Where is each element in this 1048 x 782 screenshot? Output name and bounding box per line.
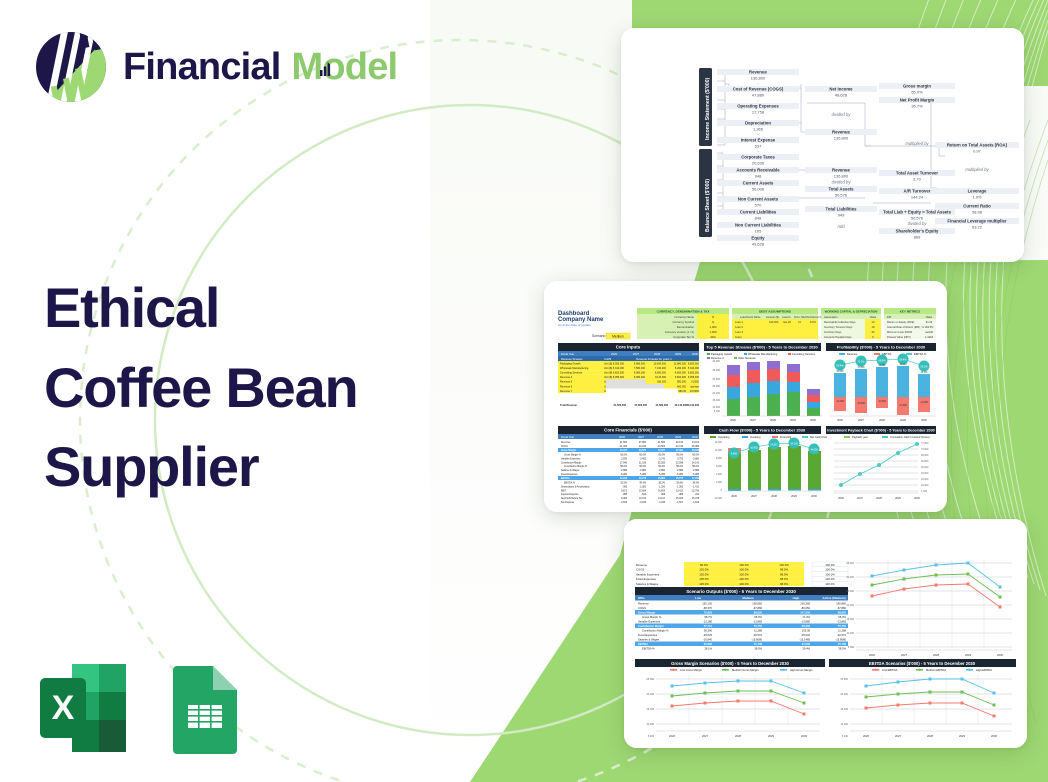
svg-text:Income Statement ($'000): Income Statement ($'000) [705, 77, 711, 140]
svg-text:Gross Margin %: Gross Margin % [642, 615, 662, 619]
svg-text:As at the Date of Update: As at the Date of Update [558, 323, 591, 327]
svg-text:63.22: 63.22 [972, 224, 983, 229]
svg-text:Active (Medium): Active (Medium) [822, 596, 845, 600]
svg-text:1,000: 1,000 [710, 330, 717, 334]
svg-text:Gross Margin: Gross Margin [638, 610, 656, 614]
svg-text:Unit ($): Unit ($) [604, 362, 612, 365]
svg-text:Variable Expenses: Variable Expenses [636, 572, 660, 576]
svg-text:multiplied by: multiplied by [905, 141, 929, 146]
svg-text:Packaging Growth: Packaging Growth [711, 352, 733, 356]
svg-text:Medium Gross Margin: Medium Gross Margin [732, 668, 759, 672]
svg-text:Net Income: Net Income [829, 87, 853, 92]
page-title-line-3: Supplier [44, 427, 444, 507]
svg-text:25,000: 25,000 [846, 590, 854, 593]
svg-text:10,000: 10,000 [646, 723, 654, 726]
svg-text:Revenue: Revenue [638, 602, 649, 606]
svg-text:-4,235: -4,235 [658, 502, 665, 504]
svg-text:-29,025: -29,025 [703, 633, 713, 637]
svg-text:-68,370: -68,370 [703, 606, 713, 610]
svg-text:58.98: 58.98 [972, 209, 983, 214]
svg-text:Interest Expense: Interest Expense [741, 138, 776, 143]
svg-text:37,800,000: 37,800,000 [634, 404, 647, 407]
svg-text:20,000: 20,000 [840, 693, 848, 696]
svg-text:71.4%: 71.4% [802, 615, 810, 619]
svg-text:40,000: 40,000 [921, 466, 929, 469]
svg-text:65.0%: 65.0% [676, 455, 683, 457]
svg-text:Non Current Liabilities: Non Current Liabilities [735, 223, 782, 228]
svg-text:Add: Add [836, 224, 845, 229]
file-format-icons: X [38, 662, 250, 754]
svg-text:Contribution Margin: Contribution Margin [561, 461, 582, 464]
svg-text:Total Revenue: Total Revenue [560, 404, 578, 407]
svg-text:-2,880: -2,880 [639, 470, 646, 472]
svg-text:-5,280: -5,280 [692, 474, 699, 476]
svg-text:Unit/$: Unit/$ [604, 357, 612, 361]
svg-text:Revenue Forecast for years 1: Revenue Forecast for years 1 [636, 357, 672, 361]
svg-text:-80,050: -80,050 [801, 606, 811, 610]
assumption-block: CURRENCY, DENOMINATION & TAX Currency Na… [637, 308, 729, 339]
svg-text:-25,642: -25,642 [801, 633, 811, 637]
svg-text:Amount ($): Amount ($) [766, 315, 779, 319]
svg-text:25,000: 25,000 [712, 385, 720, 388]
svg-text:27,391: 27,391 [676, 450, 684, 452]
svg-text:High: High [793, 596, 800, 600]
svg-text:-3,645: -3,645 [639, 502, 646, 504]
svg-text:105,38: 105,38 [802, 629, 811, 633]
svg-text:-15,1485: -15,1485 [799, 638, 810, 642]
svg-text:KEY METRICS: KEY METRICS [900, 310, 920, 314]
svg-text:65.0%: 65.0% [692, 455, 699, 457]
svg-text:Unit ($): Unit ($) [604, 372, 612, 375]
svg-text:2030: 2030 [811, 494, 817, 498]
svg-text:98.0%: 98.0% [780, 582, 788, 586]
svg-text:480,000: 480,000 [677, 385, 687, 388]
svg-text:55.3%: 55.3% [920, 365, 928, 368]
svg-text:KPIs: KPIs [638, 596, 645, 600]
svg-text:Net Profit Before Tax: Net Profit Before Tax [561, 497, 583, 500]
svg-text:66.4%: 66.4% [836, 364, 844, 367]
google-sheets-icon[interactable] [160, 662, 250, 754]
brand-word-model: Model [292, 48, 398, 86]
svg-text:10,000: 10,000 [840, 723, 848, 726]
svg-text:Contribution Margin %: Contribution Margin % [642, 629, 669, 633]
svg-text:88,920: 88,920 [838, 610, 847, 614]
svg-text:5,290,000: 5,290,000 [675, 367, 687, 370]
svg-text:98.0%: 98.0% [780, 572, 788, 576]
svg-text:Gross Margin: Gross Margin [561, 450, 577, 452]
svg-text:Medium EBITDA: Medium EBITDA [926, 668, 946, 672]
svg-text:Corporate Taxes: Corporate Taxes [741, 155, 775, 160]
svg-text:5,310,000: 5,310,000 [688, 367, 700, 370]
svg-text:-16,840: -16,840 [703, 638, 713, 642]
svg-text:Revenue: Revenue [832, 168, 851, 173]
svg-text:Gross margin: Gross margin [903, 84, 931, 89]
svg-text:Launch: Launch [782, 315, 791, 319]
svg-text:5,000: 5,000 [648, 735, 655, 738]
svg-text:35,000: 35,000 [712, 369, 720, 372]
svg-text:2028: 2028 [770, 418, 776, 422]
svg-text:43,110: 43,110 [692, 442, 700, 444]
svg-text:147,300: 147,300 [800, 610, 810, 614]
svg-text:-1,365: -1,365 [676, 486, 683, 488]
svg-text:17,200: 17,200 [692, 478, 700, 480]
svg-text:Internal Rate of Return (IRR),: Internal Rate of Return (IRR), % [887, 325, 925, 329]
page-title-line-1: Ethical [44, 268, 444, 348]
svg-text:97,538: 97,538 [802, 642, 811, 646]
svg-text:Shareholder's Equity: Shareholder's Equity [896, 229, 939, 234]
svg-text:70,000: 70,000 [921, 448, 929, 451]
svg-text:38.5%: 38.5% [754, 647, 762, 651]
svg-text:2026: 2026 [838, 496, 844, 500]
svg-text:144.24: 144.24 [911, 194, 924, 199]
svg-text:8.0%: 8.0% [810, 320, 817, 324]
svg-text:16,455: 16,455 [750, 446, 758, 449]
svg-text:2030: 2030 [991, 734, 997, 738]
svg-text:2029: 2029 [768, 734, 774, 738]
svg-text:9,871: 9,871 [621, 490, 628, 492]
svg-text:Loan/Grant Name: Loan/Grant Name [740, 315, 761, 319]
svg-text:2026: 2026 [619, 435, 625, 439]
svg-text:6,820,000: 6,820,000 [613, 372, 625, 375]
svg-text:Scenario Outputs ($'000) - 5 Y: Scenario Outputs ($'000) - 5 Years to De… [686, 589, 796, 594]
svg-text:Depreciation & Amortization: Depreciation & Amortization [561, 485, 590, 488]
svg-text:8,000: 8,000 [716, 457, 723, 460]
svg-text:Operating: Operating [718, 435, 730, 439]
svg-text:-5,280: -5,280 [639, 474, 646, 476]
svg-text:Denomination: Denomination [677, 325, 695, 329]
svg-text:-5,280: -5,280 [676, 474, 683, 476]
svg-text:8,055,000: 8,055,000 [613, 362, 625, 365]
svg-text:COGS: COGS [561, 446, 568, 448]
svg-text:Packaging Growth: Packaging Growth [560, 362, 581, 365]
svg-text:Unit ($): Unit ($) [604, 376, 612, 379]
svg-text:8,830,000: 8,830,000 [655, 372, 667, 375]
svg-text:Current Ratio: Current Ratio [963, 204, 991, 209]
svg-text:EBITDA: EBITDA [561, 477, 570, 480]
svg-text:COGS: COGS [636, 568, 644, 572]
svg-text:56.0%: 56.0% [658, 466, 665, 468]
svg-text:Revenue Streams: Revenue Streams [561, 357, 583, 361]
svg-text:2028: 2028 [933, 653, 939, 657]
svg-text:-2,880: -2,880 [692, 470, 699, 472]
svg-text:Salaries & Wages: Salaries & Wages [561, 469, 580, 472]
svg-text:-1,410: -1,410 [692, 486, 699, 488]
svg-text:Scenario: Scenario [592, 334, 605, 338]
svg-text:Investing: Investing [750, 435, 761, 439]
brand-logo[interactable]: Financial Model [33, 28, 397, 106]
svg-text:Assumption: Assumption [824, 315, 838, 319]
svg-text:15,411: 15,411 [676, 490, 684, 492]
svg-text:10,5000: 10,5000 [690, 390, 700, 393]
dashboard-sheet: Dashboard Company Name As at the Date of… [544, 281, 947, 512]
svg-text:2027: 2027 [750, 418, 756, 422]
svg-text:-13,180: -13,180 [703, 620, 713, 624]
svg-text:105.0%: 105.0% [699, 582, 709, 586]
svg-text:100.0%: 100.0% [739, 577, 749, 581]
svg-text:Tax Expense: Tax Expense [561, 502, 575, 504]
svg-text:Present Value (NPV): Present Value (NPV) [887, 335, 911, 339]
dupont-analysis-screenshot-card[interactable]: Income Statement ($'000) Balance Sheet (… [621, 28, 1024, 262]
svg-text:EBITDA Scenarios ($'000) - 5 Y: EBITDA Scenarios ($'000) - 5 Years to De… [869, 661, 976, 666]
svg-text:-17,680: -17,680 [899, 405, 908, 407]
svg-text:50,576: 50,576 [835, 192, 848, 197]
svg-text:949: 949 [838, 212, 845, 217]
svg-text:9,055,000: 9,055,000 [688, 376, 700, 379]
svg-text:-4,507: -4,507 [676, 502, 683, 504]
svg-text:196,860: 196,860 [752, 602, 762, 606]
microsoft-excel-icon[interactable]: X [38, 662, 128, 754]
svg-text:-26,572: -26,572 [837, 633, 847, 637]
svg-text:-1,290: -1,290 [658, 486, 665, 488]
svg-text:0,5000: 0,5000 [691, 381, 699, 384]
svg-text:80.0%: 80.0% [700, 563, 708, 567]
svg-text:5,000: 5,000 [848, 646, 855, 649]
svg-text:35,000: 35,000 [846, 562, 854, 565]
svg-text:Current Assets: Current Assets [743, 181, 774, 186]
svg-text:42,140,000: 42,140,000 [674, 404, 687, 407]
svg-text:Revenue 7: Revenue 7 [560, 390, 573, 393]
svg-text:100.0%: 100.0% [739, 563, 749, 567]
svg-text:-365: -365 [622, 486, 627, 488]
svg-text:15,000: 15,000 [646, 708, 654, 711]
svg-text:Contribution Margin: Contribution Margin [638, 624, 664, 628]
svg-text:-13,865: -13,865 [837, 620, 847, 624]
svg-text:Minimum Loan DSCR: Minimum Loan DSCR [887, 330, 912, 334]
svg-text:-542: -542 [641, 494, 646, 496]
svg-text:DEBT ASSUMPTIONS: DEBT ASSUMPTIONS [759, 310, 791, 314]
svg-text:28,022: 28,022 [692, 450, 700, 452]
svg-text:-2,880: -2,880 [676, 470, 683, 472]
svg-text:2027: 2027 [638, 435, 644, 439]
svg-text:1.1918: 1.1918 [925, 335, 933, 339]
excel-letter-x: X [52, 689, 75, 727]
svg-text:17,640: 17,640 [620, 462, 628, 464]
svg-text:Return on Total Assets (ROA): Return on Total Assets (ROA) [947, 143, 1008, 148]
svg-text:41,580,000: 41,580,000 [655, 404, 668, 407]
svg-text:10,830,000: 10,830,000 [653, 362, 666, 365]
svg-text:5,000: 5,000 [842, 735, 849, 738]
svg-text:10,000: 10,000 [712, 406, 720, 409]
svg-text:EBITDA: EBITDA [638, 642, 648, 646]
svg-text:Value: Value [926, 315, 933, 319]
svg-text:Currency version (1 / 2): Currency version (1 / 2) [665, 330, 694, 334]
svg-text:10,000: 10,000 [715, 449, 723, 452]
scenario-content: RevenueCOGS Variable ExpensesFixed Expen… [624, 519, 1027, 748]
svg-text:24,570: 24,570 [639, 449, 647, 452]
chart-legend: Low Gross Margin Medium Gross Margin Hig… [670, 668, 813, 672]
svg-text:15,023: 15,023 [676, 498, 684, 500]
svg-text:Medium: Medium [742, 596, 754, 600]
svg-text:2030: 2030 [692, 435, 698, 439]
svg-text:Loan 2: Loan 2 [735, 325, 743, 329]
svg-text:50,000: 50,000 [921, 460, 929, 463]
dupont-analysis-sheet: Income Statement ($'000) Balance Sheet (… [621, 28, 1024, 262]
svg-text:-15,8080: -15,8080 [751, 638, 762, 642]
svg-text:Corporate Tax %: Corporate Tax % [673, 335, 694, 339]
svg-text:-2,880: -2,880 [658, 470, 665, 472]
svg-text:2029: 2029 [900, 418, 906, 422]
svg-text:Investment Payback Chart ($'00: Investment Payback Chart ($'000) - 5 Yea… [827, 429, 934, 433]
svg-text:155,130: 155,130 [702, 602, 712, 606]
svg-text:10,236: 10,236 [620, 478, 628, 480]
svg-text:2026: 2026 [611, 352, 617, 356]
svg-text:-2,835: -2,835 [620, 458, 627, 460]
svg-text:5,310,000: 5,310,000 [613, 367, 625, 370]
svg-text:9,383: 9,383 [621, 498, 628, 500]
svg-text:-13,230: -13,230 [638, 446, 647, 448]
svg-text:11,288: 11,288 [754, 629, 763, 633]
svg-text:2030: 2030 [810, 418, 816, 422]
svg-text:15,000: 15,000 [840, 708, 848, 711]
svg-text:75,826: 75,826 [704, 610, 713, 614]
svg-text:-14,050: -14,050 [920, 402, 929, 404]
svg-text:Fiscal Year: Fiscal Year [561, 352, 574, 356]
svg-text:Balance Sheet ($'000): Balance Sheet ($'000) [705, 179, 711, 232]
svg-text:6,820,000: 6,820,000 [688, 372, 700, 375]
svg-text:136,800: 136,800 [834, 135, 849, 140]
svg-text:2027: 2027 [702, 734, 708, 738]
brand-word-financial: Financial [123, 48, 281, 86]
svg-text:Cumulative Cash Invested (Gros: Cumulative Cash Invested (Gross) [890, 435, 930, 439]
svg-text:-11,025: -11,025 [619, 446, 627, 448]
svg-text:30,000: 30,000 [846, 576, 854, 579]
page-title: Ethical Coffee Bean Supplier [44, 268, 444, 507]
svg-text:-5,280: -5,280 [620, 474, 627, 476]
scenario-analysis-sheet: RevenueCOGS Variable ExpensesFixed Expen… [624, 519, 1027, 748]
svg-text:69.4%: 69.4% [899, 358, 907, 361]
svg-text:-15,8080: -15,8080 [835, 638, 846, 642]
svg-text:CURRENCY, DENOMINATION & TAX: CURRENCY, DENOMINATION & TAX [657, 310, 711, 314]
svg-text:75,708: 75,708 [754, 642, 763, 646]
svg-text:Fixed Expenses: Fixed Expenses [638, 633, 658, 637]
svg-text:100.0%: 100.0% [825, 577, 835, 581]
mini-bar-chart-icon [319, 61, 332, 77]
svg-text:2028: 2028 [657, 435, 663, 439]
svg-text:-4,643: -4,643 [692, 502, 699, 504]
brand-word-model-text: Model [292, 46, 398, 88]
svg-text:9,080,000: 9,080,000 [634, 362, 646, 365]
svg-text:-10,000: -10,000 [714, 497, 723, 500]
svg-text:23,285: 23,285 [658, 462, 666, 464]
svg-text:-15,820: -15,820 [857, 403, 866, 405]
svg-text:Currency Symbol: Currency Symbol [673, 320, 695, 324]
svg-text:Salaries & Wages: Salaries & Wages [638, 638, 660, 642]
svg-text:Wholesale Manufacturing: Wholesale Manufacturing [748, 352, 778, 356]
svg-text:136,800: 136,800 [834, 173, 849, 178]
svg-text:Loan 1: Loan 1 [735, 320, 743, 324]
panel-core-inputs: Core Inputs Fiscal Year 20262027 2028202… [558, 343, 700, 407]
scenario-analysis-screenshot-card[interactable]: RevenueCOGS Variable ExpensesFixed Expen… [624, 519, 1027, 748]
svg-text:15,000: 15,000 [712, 399, 720, 402]
svg-text:7,580,000: 7,580,000 [634, 367, 646, 370]
svg-text:Gross Margin %: Gross Margin % [564, 454, 581, 457]
svg-text:9,110,000: 9,110,000 [655, 376, 667, 379]
svg-text:38,390: 38,390 [704, 629, 713, 633]
svg-text:31,500,000: 31,500,000 [613, 404, 626, 407]
svg-text:1,000: 1,000 [710, 325, 717, 329]
svg-text:Total Liabilities: Total Liabilities [826, 207, 858, 212]
svg-text:77,000: 77,000 [921, 442, 929, 445]
svg-text:98.0%: 98.0% [780, 577, 788, 581]
svg-text:65.0%: 65.0% [754, 615, 762, 619]
svg-text:20,636: 20,636 [752, 160, 765, 165]
svg-text:Low EBITDA: Low EBITDA [882, 668, 898, 672]
svg-text:57,710: 57,710 [704, 624, 713, 628]
svg-text:2027: 2027 [895, 734, 901, 738]
svg-text:2029: 2029 [959, 734, 965, 738]
svg-text:2029: 2029 [791, 494, 797, 498]
svg-text:2028: 2028 [654, 352, 660, 356]
svg-text:-3,742: -3,742 [658, 458, 665, 460]
svg-text:Equity: Equity [751, 236, 765, 241]
svg-text:10,000: 10,000 [846, 632, 854, 635]
svg-text:-15,089: -15,089 [691, 446, 700, 448]
svg-text:2026: 2026 [837, 418, 843, 422]
svg-text:12,694: 12,694 [639, 490, 647, 492]
svg-text:27,027: 27,027 [658, 450, 666, 452]
svg-text:A/R Turnover: A/R Turnover [904, 189, 931, 194]
svg-text:Profitability ($'000) - 5 Year: Profitability ($'000) - 5 Years to Decem… [837, 345, 926, 350]
svg-text:Term, Months: Term, Months [794, 315, 810, 319]
svg-text:100.0%: 100.0% [739, 582, 749, 586]
svg-text:2027: 2027 [857, 496, 863, 500]
svg-text:-2,880: -2,880 [620, 470, 627, 472]
svg-text:Inventory Days: Inventory Days [824, 330, 842, 334]
svg-text:Net Profit Margin: Net Profit Margin [900, 98, 935, 103]
svg-text:20,475: 20,475 [620, 449, 628, 452]
svg-text:2029: 2029 [790, 418, 796, 422]
svg-text:42,140: 42,140 [676, 442, 684, 444]
svg-text:2028: 2028 [879, 418, 885, 422]
svg-text:570: 570 [755, 202, 762, 207]
svg-text:Fixed Expenses: Fixed Expenses [636, 577, 657, 581]
svg-text:44,098: 44,098 [810, 448, 818, 451]
svg-text:multiplied by: multiplied by [965, 167, 989, 172]
svg-text:105.0%: 105.0% [699, 577, 709, 581]
svg-text:Fixed Expenses: Fixed Expenses [561, 474, 578, 476]
svg-text:Payback year: Payback year [852, 435, 868, 439]
svg-text:-1,082: -1,082 [639, 486, 646, 488]
svg-text:196,860: 196,860 [836, 602, 846, 606]
svg-text:56.0%: 56.0% [620, 466, 627, 468]
svg-text:Interest %: Interest % [810, 315, 822, 319]
svg-text:KPI: KPI [887, 315, 891, 319]
svg-text:100.0%: 100.0% [825, 563, 835, 567]
dashboard-screenshot-card[interactable]: Dashboard Company Name As at the Date of… [544, 281, 947, 512]
svg-text:30,110: 30,110 [921, 372, 929, 374]
assumption-block: DEBT ASSUMPTIONS Loan/Grant NameAmount (… [732, 308, 822, 339]
svg-text:236,380: 236,380 [800, 602, 810, 606]
svg-text:75,750: 75,750 [838, 624, 847, 628]
svg-text:EBITDA %: EBITDA % [914, 352, 927, 356]
svg-text:14,117: 14,117 [658, 498, 666, 500]
svg-text:11,880,000: 11,880,000 [674, 362, 687, 365]
svg-text:Grant: Grant [735, 335, 742, 339]
svg-text:Financial Leverage multiplier: Financial Leverage multiplier [947, 219, 1007, 224]
svg-text:-3,880: -3,880 [692, 458, 699, 460]
svg-text:20,000: 20,000 [921, 478, 929, 481]
svg-text:120.0%: 120.0% [779, 563, 789, 567]
svg-text:-5,280: -5,280 [658, 474, 665, 476]
svg-text:Top 5 Revenue Streams ($'000): Top 5 Revenue Streams ($'000) - 5 Years … [706, 345, 818, 350]
svg-text:3,820,000: 3,820,000 [675, 376, 687, 379]
svg-text:Receivable Collection Days: Receivable Collection Days [824, 320, 856, 324]
svg-text:580,000: 580,000 [677, 381, 687, 384]
svg-text:32.5%: 32.5% [620, 483, 627, 485]
svg-text:65.0%: 65.0% [620, 455, 627, 457]
svg-text:14,605: 14,605 [658, 490, 666, 492]
circular-bar-chart-logo-icon [33, 28, 109, 106]
